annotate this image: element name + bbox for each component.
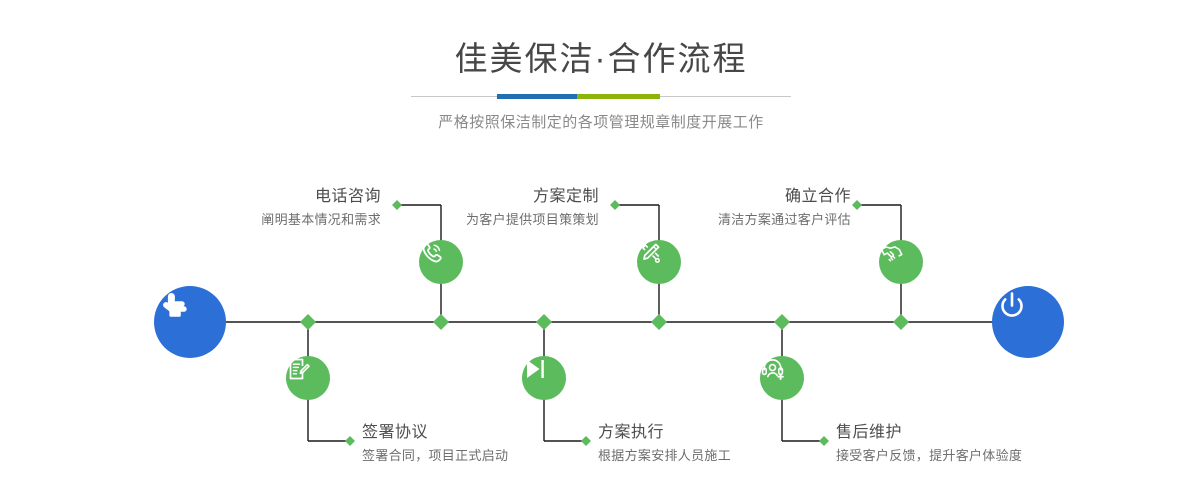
step-above-2-desc: 为客户提供项目策策划 xyxy=(466,210,599,230)
document-edit-icon xyxy=(286,356,312,382)
step-below-1-desc: 签署合同，项目正式启动 xyxy=(362,446,508,466)
label-diamond-above-2 xyxy=(610,200,620,210)
step-below-2-icon-circle[interactable] xyxy=(522,356,566,400)
step-below-2-desc: 根据方案安排人员施工 xyxy=(598,446,731,466)
step-above-3-icon-circle[interactable] xyxy=(879,240,923,284)
step-above-1-title: 电话咨询 xyxy=(261,186,381,208)
process-flow-page: 佳美保洁·合作流程 严格按照保洁制定的各项管理规章制度开展工作 xyxy=(0,0,1202,502)
customer-support-icon xyxy=(760,356,786,382)
step-below-3-icon-circle[interactable] xyxy=(760,356,804,400)
step-below-2-title: 方案执行 xyxy=(598,422,731,444)
step-above-1-desc: 阐明基本情况和需求 xyxy=(261,210,381,230)
pointing-hand-icon xyxy=(154,286,194,326)
step-above-1-icon-circle[interactable] xyxy=(419,240,463,284)
step-below-2-label: 方案执行 根据方案安排人员施工 xyxy=(598,422,731,466)
timeline-diamond-3 xyxy=(536,314,552,330)
handshake-icon xyxy=(879,240,906,267)
timeline-diamond-1 xyxy=(300,314,316,330)
step-above-3-title: 确立合作 xyxy=(718,186,851,208)
step-above-3-label: 确立合作 清洁方案通过客户评估 xyxy=(718,186,851,230)
timeline-diamond-4 xyxy=(651,314,667,330)
step-below-3-label: 售后维护 接受客户反馈，提升客户体验度 xyxy=(836,422,1022,466)
flow-end-node[interactable] xyxy=(992,286,1064,358)
phone-call-icon xyxy=(419,240,445,266)
step-above-2-label: 方案定制 为客户提供项目策策划 xyxy=(466,186,599,230)
timeline-diamond-6 xyxy=(893,314,909,330)
power-icon xyxy=(992,286,1032,326)
label-diamond-above-1 xyxy=(392,200,402,210)
process-flow-diagram: 电话咨询 阐明基本情况和需求 方案定制 为客户提供项目策策划 xyxy=(0,0,1202,502)
flow-start-node[interactable] xyxy=(154,286,226,358)
play-execute-icon xyxy=(522,356,548,382)
label-diamond-below-1 xyxy=(345,436,355,446)
step-below-3-desc: 接受客户反馈，提升客户体验度 xyxy=(836,446,1022,466)
timeline-diamond-2 xyxy=(433,314,449,330)
step-above-2-icon-circle[interactable] xyxy=(637,240,681,284)
step-below-3-title: 售后维护 xyxy=(836,422,1022,444)
label-diamond-below-3 xyxy=(819,436,829,446)
label-diamond-above-3 xyxy=(852,200,862,210)
timeline-diamond-5 xyxy=(774,314,790,330)
step-below-1-icon-circle[interactable] xyxy=(286,356,330,400)
label-diamond-below-2 xyxy=(581,436,591,446)
step-above-3-desc: 清洁方案通过客户评估 xyxy=(718,210,851,230)
step-above-1-label: 电话咨询 阐明基本情况和需求 xyxy=(261,186,381,230)
step-below-1-label: 签署协议 签署合同，项目正式启动 xyxy=(362,422,508,466)
step-below-1-title: 签署协议 xyxy=(362,422,508,444)
step-above-2-title: 方案定制 xyxy=(466,186,599,208)
pencil-design-icon xyxy=(637,240,663,266)
